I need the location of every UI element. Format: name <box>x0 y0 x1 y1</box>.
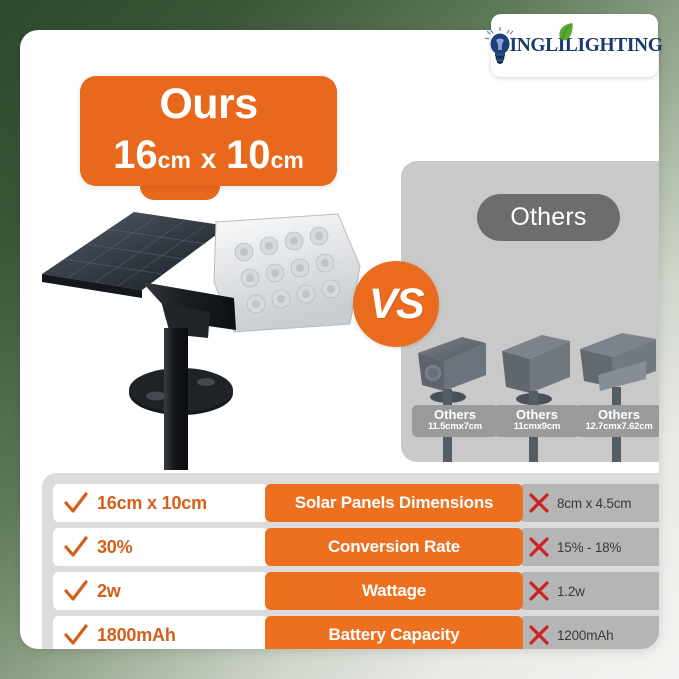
others-cell: 1200mAh <box>519 616 659 649</box>
others-products-group: Others 11.5cmx7cm Others 11cmx9cm <box>401 329 659 462</box>
product-image-ours <box>38 208 368 470</box>
others-value: 1200mAh <box>557 628 613 643</box>
cross-icon <box>528 580 550 602</box>
others-value: 1.2w <box>557 584 585 599</box>
others-value: 15% - 18% <box>557 540 621 555</box>
check-icon <box>64 536 88 558</box>
others-cell: 15% - 18% <box>519 528 659 566</box>
feature-label: Conversion Rate <box>328 537 460 557</box>
table-row: 1800mAh Battery Capacity 1200mAh <box>53 616 659 649</box>
feature-label: Solar Panels Dimensions <box>295 493 494 513</box>
table-row: 30% Conversion Rate 15% - 18% <box>53 528 659 566</box>
check-icon <box>64 492 88 514</box>
vs-badge: VS <box>353 261 439 347</box>
ours-cell: 1800mAh <box>53 616 269 649</box>
ours-dim-number-1: 16 <box>113 133 158 177</box>
cross-icon <box>528 536 550 558</box>
ours-badge-dimensions: 16cm x 10cm <box>113 135 304 175</box>
feature-cell: Wattage <box>265 572 523 610</box>
others-title-pill: Others <box>477 194 620 241</box>
feature-label: Battery Capacity <box>329 625 460 645</box>
table-row: 2w Wattage 1.2w <box>53 572 659 610</box>
ours-value: 2w <box>97 581 121 602</box>
others-cell: 8cm x 4.5cm <box>519 484 659 522</box>
ours-dim-unit-2: cm <box>271 147 304 173</box>
others-title-label: Others <box>510 203 586 232</box>
feature-cell: Conversion Rate <box>265 528 523 566</box>
feature-label: Wattage <box>362 581 426 601</box>
check-icon <box>64 624 88 646</box>
vs-label: VS <box>369 280 423 329</box>
ours-cell: 30% <box>53 528 269 566</box>
infographic-card: Others <box>20 30 659 649</box>
others-product-1-label: Others 11.5cmx7cm <box>412 405 498 437</box>
ours-dim-unit-1: cm <box>158 147 191 173</box>
ours-dim-separator: x <box>191 143 226 174</box>
ours-value: 1800mAh <box>97 625 176 646</box>
others-value: 8cm x 4.5cm <box>557 496 631 511</box>
others-product-1: Others 11.5cmx7cm <box>412 329 498 462</box>
ours-dim-number-2: 10 <box>226 133 271 177</box>
cross-icon <box>528 624 550 646</box>
others-product-3: Others 12.7cmx7.62cm <box>576 329 659 462</box>
others-product-2-label: Others 11cmx9cm <box>494 405 580 437</box>
brand-logo: INGLILIGHTING <box>491 14 658 77</box>
ours-value: 30% <box>97 537 132 558</box>
ours-cell: 2w <box>53 572 269 610</box>
ours-cell: 16cm x 10cm <box>53 484 269 522</box>
ours-value: 16cm x 10cm <box>97 493 207 514</box>
feature-cell: Solar Panels Dimensions <box>265 484 523 522</box>
ours-badge-title: Ours <box>159 83 257 126</box>
feature-cell: Battery Capacity <box>265 616 523 649</box>
others-cell: 1.2w <box>519 572 659 610</box>
ours-badge: Ours 16cm x 10cm <box>80 76 337 186</box>
lightbulb-icon <box>483 26 517 66</box>
others-product-3-label: Others 12.7cmx7.62cm <box>576 405 659 437</box>
others-product-2: Others 11cmx9cm <box>494 329 580 462</box>
others-panel: Others <box>401 161 659 462</box>
table-row: 16cm x 10cm Solar Panels Dimensions 8cm … <box>53 484 659 522</box>
leaf-icon <box>557 22 574 42</box>
cross-icon <box>528 492 550 514</box>
brand-logo-text: INGLILIGHTING <box>510 35 663 57</box>
comparison-table: 16cm x 10cm Solar Panels Dimensions 8cm … <box>42 473 659 649</box>
check-icon <box>64 580 88 602</box>
